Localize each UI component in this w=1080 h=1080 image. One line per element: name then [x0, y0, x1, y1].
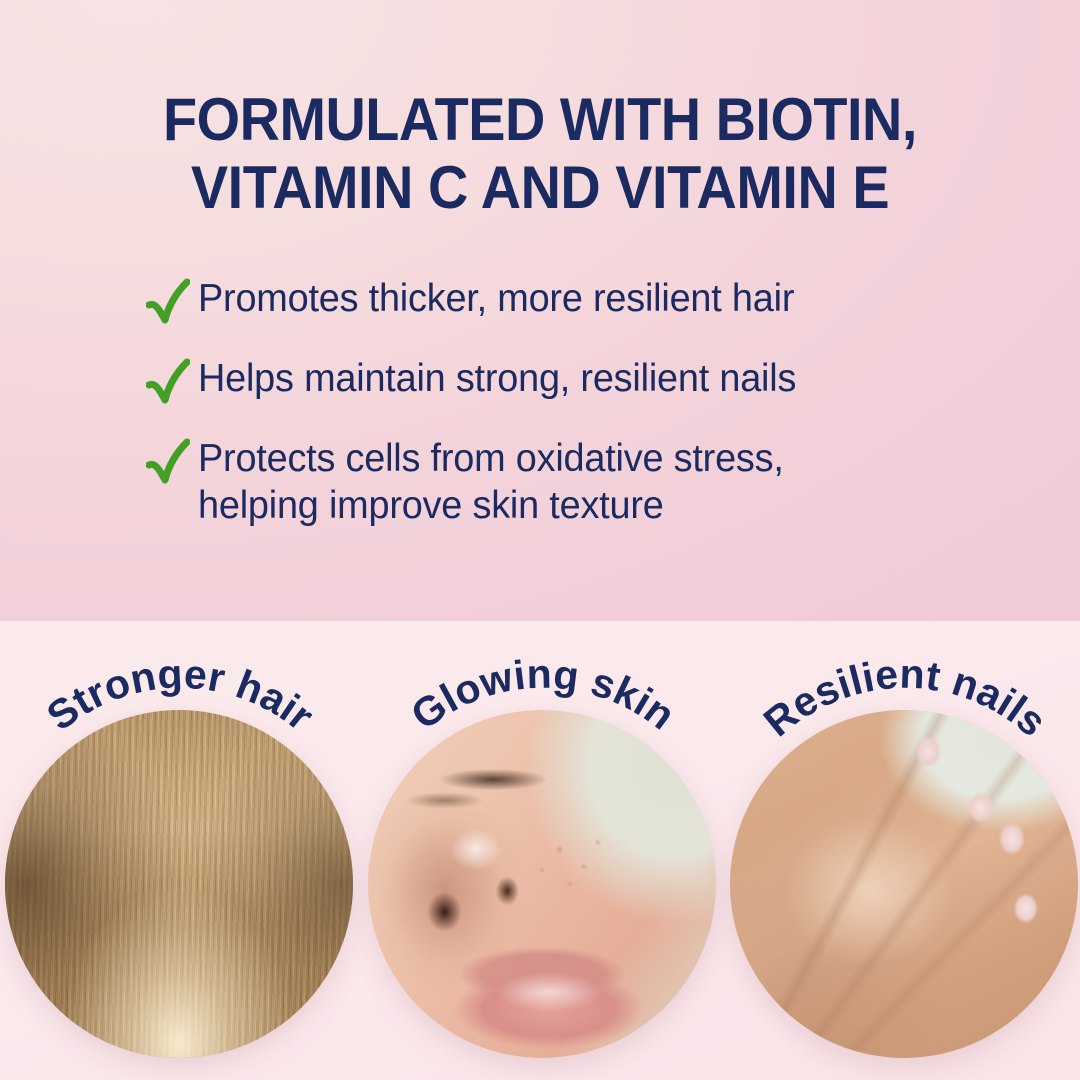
skin-photo — [368, 710, 716, 1058]
benefits-list: Promotes thicker, more resilient hair He… — [0, 276, 1080, 558]
check-icon — [146, 358, 190, 408]
product-benefits-poster: FORMULATED WITH BIOTIN, VITAMIN C AND VI… — [0, 0, 1080, 1080]
benefit-text: Promotes thicker, more resilient hair — [198, 276, 794, 323]
gallery-item-nails: Resilient nails — [725, 621, 1080, 1080]
list-item: Helps maintain strong, resilient nails — [0, 356, 1080, 408]
headline-panel: FORMULATED WITH BIOTIN, VITAMIN C AND VI… — [0, 0, 1080, 621]
skin-photo-image — [368, 710, 716, 1058]
gallery-item-skin: Glowing skin — [363, 621, 723, 1080]
nails-photo — [730, 710, 1078, 1058]
benefit-text: Helps maintain strong, resilient nails — [198, 356, 796, 403]
gallery-panel: Stronger hair Glowing skin — [0, 621, 1080, 1080]
hair-photo — [5, 710, 353, 1058]
check-icon — [146, 278, 190, 328]
check-icon — [146, 438, 190, 488]
nails-photo-image — [730, 710, 1078, 1058]
list-item: Promotes thicker, more resilient hair — [0, 276, 1080, 328]
benefit-text: Protects cells from oxidative stress, he… — [198, 436, 784, 530]
list-item: Protects cells from oxidative stress, he… — [0, 436, 1080, 530]
gallery-item-hair: Stronger hair — [0, 621, 360, 1080]
hair-photo-image — [5, 710, 353, 1058]
page-title: FORMULATED WITH BIOTIN, VITAMIN C AND VI… — [38, 86, 1042, 223]
